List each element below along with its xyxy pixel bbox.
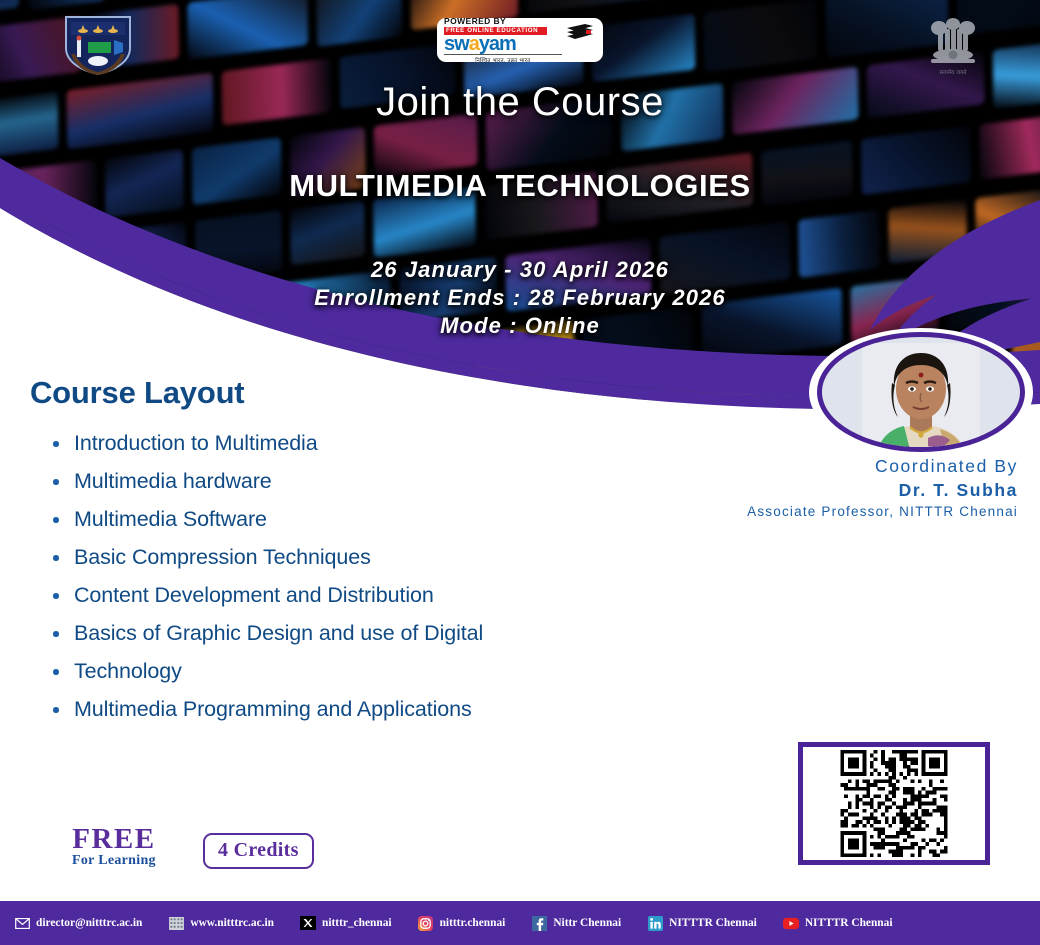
mosaic-tile (0, 0, 19, 17)
mosaic-tile (187, 0, 308, 60)
list-item: Multimedia hardware (48, 462, 728, 500)
linkedin-icon (647, 916, 663, 931)
course-layout-list: Introduction to Multimedia Multimedia ha… (48, 424, 728, 728)
swayam-word-part2: a (469, 33, 479, 55)
course-title: MULTIMEDIA TECHNOLOGIES (0, 168, 1040, 204)
free-for-learning-badge: FREE For Learning (72, 826, 156, 869)
course-layout-heading: Course Layout (30, 375, 244, 411)
footer-label: Nittr Chennai (553, 917, 621, 929)
list-item-continuation: Technology (48, 652, 728, 690)
footer-item-x-twitter[interactable]: nitttr_chennai (300, 916, 392, 931)
mosaic-tile (591, 14, 695, 83)
footer-item-website[interactable]: www.nitttrc.ac.in (168, 916, 274, 931)
footer-label: nitttr_chennai (322, 917, 392, 929)
for-learning-label: For Learning (72, 853, 156, 869)
list-item: Introduction to Multimedia (48, 424, 728, 462)
coordinator-photo-ring (817, 332, 1025, 452)
mosaic-tile (639, 371, 760, 400)
list-item: Multimedia Software (48, 500, 728, 538)
mosaic-tile (317, 334, 468, 400)
coordinator-designation: Associate Professor, NITTTR Chennai (660, 504, 1018, 519)
credits-badge: 4 Credits (203, 833, 314, 869)
svg-text:सत्यमेव जयते: सत्यमेव जयते (939, 69, 967, 76)
swayam-logo: POWERED BY FREE ONLINE EDUCATION swayam … (437, 18, 603, 62)
swayam-hindi-tagline: निश्चित भारत, उन्नत भारत (444, 54, 562, 64)
footer-item-instagram[interactable]: nitttr.chennai (418, 916, 506, 931)
mosaic-tile (316, 0, 402, 47)
qr-code-icon[interactable] (798, 742, 990, 865)
instagram-icon (418, 916, 434, 931)
footer-label: NITTTR Chennai (669, 917, 757, 929)
date-range: 26 January - 30 April 2026 (0, 256, 1040, 284)
coordinated-by-label: Coordinated By (660, 456, 1018, 477)
mosaic-tile (703, 0, 817, 72)
list-item: Multimedia Programming and Applications (48, 690, 728, 728)
footer-item-email[interactable]: director@nitttrc.ac.in (14, 916, 142, 931)
mosaic-tile (526, 0, 674, 13)
footer-label: director@nitttrc.ac.in (36, 917, 142, 929)
swayam-word-part3: yam (479, 33, 516, 55)
free-label: FREE (72, 826, 156, 853)
footer-item-linkedin[interactable]: NITTTR Chennai (647, 916, 757, 931)
footer-item-youtube[interactable]: NITTTR Chennai (783, 916, 893, 931)
list-item: Basic Compression Techniques (48, 538, 728, 576)
footer-contact-bar: director@nitttrc.ac.in www.nitttrc.ac.in… (0, 901, 1040, 945)
qr-code-matrix (806, 750, 982, 857)
coordinator-info: Coordinated By Dr. T. Subha Associate Pr… (660, 456, 1030, 519)
enrollment-deadline: Enrollment Ends : 28 February 2026 (0, 284, 1040, 312)
coordinator-name: Dr. T. Subha (660, 480, 1018, 501)
footer-label: www.nitttrc.ac.in (190, 917, 274, 929)
footer-label: nitttr.chennai (440, 917, 506, 929)
course-poster: सत्यमेव जयते POWERED BY FREE ONLINE EDUC… (0, 0, 1040, 945)
course-dates-block: 26 January - 30 April 2026 Enrollment En… (0, 256, 1040, 340)
footer-label: NITTTR Chennai (805, 917, 893, 929)
list-item: Basics of Graphic Design and use of Digi… (48, 614, 728, 652)
mosaic-tile (27, 0, 105, 10)
footer-item-facebook[interactable]: Nittr Chennai (531, 916, 621, 931)
x-twitter-icon (300, 916, 316, 931)
email-icon (14, 916, 30, 931)
nitttr-crest-icon (62, 14, 134, 76)
youtube-icon (783, 916, 799, 931)
coordinator-portrait (862, 343, 980, 452)
list-item: Content Development and Distribution (48, 576, 728, 614)
coordinator-photo (817, 332, 1025, 452)
india-national-emblem-icon: सत्यमेव जयते (925, 14, 981, 82)
books-icon (565, 22, 595, 42)
mosaic-tile (888, 199, 967, 263)
facebook-icon (531, 916, 547, 931)
join-the-course-headline: Join the Course (0, 80, 1040, 125)
website-icon (168, 916, 184, 931)
swayam-word-part1: sw (444, 33, 469, 55)
